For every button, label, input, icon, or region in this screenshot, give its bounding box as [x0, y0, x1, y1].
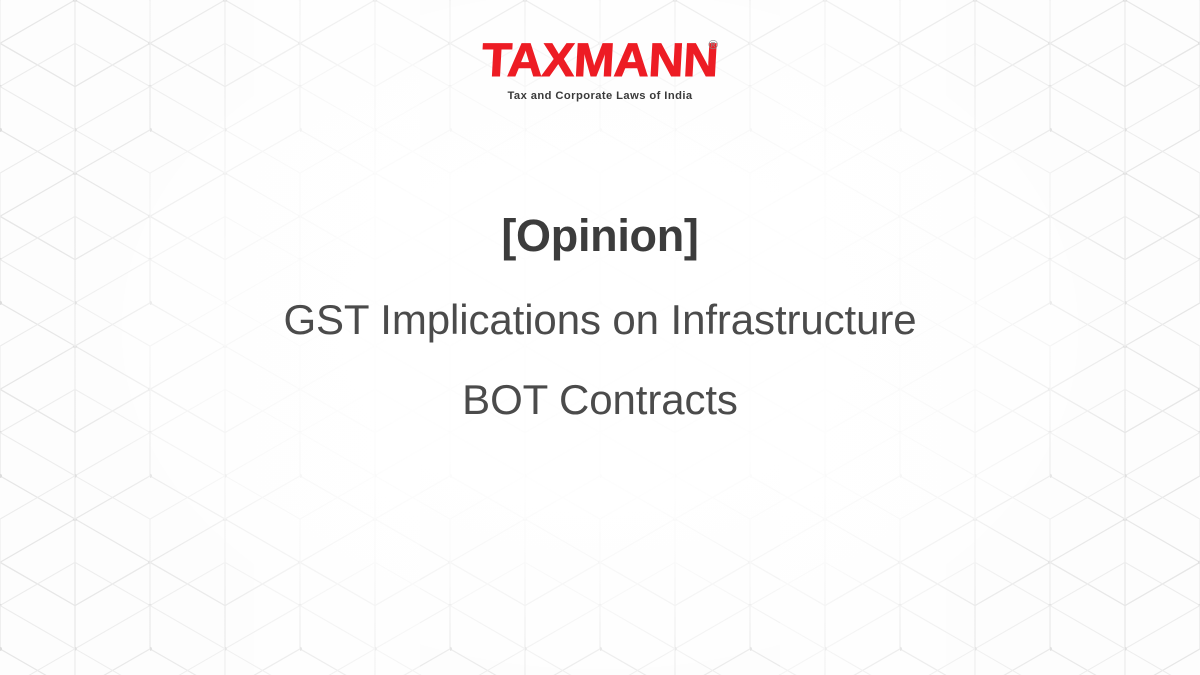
taxmann-logo: TAXMANN ® Tax and Corporate Laws of Indi… — [494, 36, 706, 104]
opinion-banner: TAXMANN ® Tax and Corporate Laws of Indi… — [0, 0, 1200, 675]
headline-block: [Opinion] GST Implications on Infrastruc… — [0, 212, 1200, 421]
banner-content: TAXMANN ® Tax and Corporate Laws of Indi… — [0, 0, 1200, 675]
taxmann-wordmark: TAXMANN — [481, 36, 720, 83]
page-title-line-1: GST Implications on Infrastructure — [0, 299, 1200, 341]
opinion-tag: [Opinion] — [0, 212, 1200, 259]
registered-trademark-icon: ® — [708, 38, 718, 51]
taxmann-tagline: Tax and Corporate Laws of India — [508, 90, 693, 102]
page-title-line-2: BOT Contracts — [0, 379, 1200, 421]
